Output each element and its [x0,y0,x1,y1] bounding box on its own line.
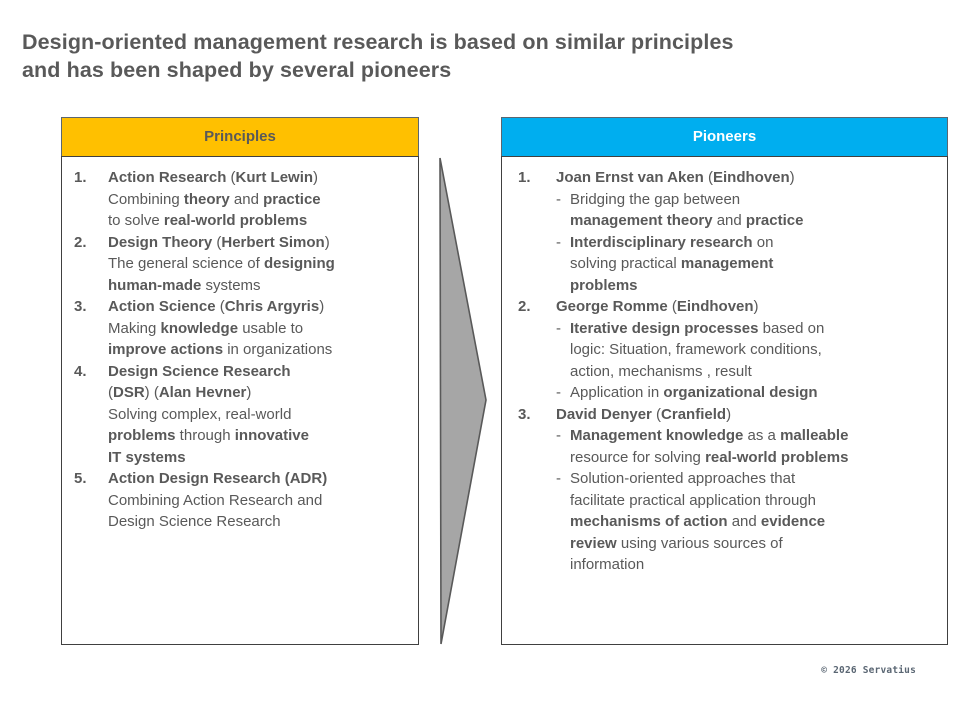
principle-item-detail: improve actions in organizations [108,339,410,361]
emphasis-text: George Romme [556,298,668,315]
emphasis-text: Eindhoven [713,169,790,186]
slide-canvas: Design-oriented management research is b… [0,0,960,720]
principle-item-number: 1. [74,167,87,189]
principle-item: 3.Action Science (Chris Argyris)Making k… [68,296,410,361]
body-text: based on [758,320,824,337]
emphasis-text: Eindhoven [677,298,754,315]
emphasis-text: David Denyer [556,406,652,423]
page-title-line-1: Design-oriented management research is b… [22,28,922,56]
principle-item-detail: Making knowledge usable to [108,318,410,340]
pioneers-list: 1.Joan Ernst van Aken (Eindhoven)-Bridgi… [508,167,939,576]
emphasis-text: Iterative design processes [570,320,758,337]
body-text: and [728,513,761,530]
principle-item-title: Action Research (Kurt Lewin) [108,167,410,189]
body-text: information [570,556,644,573]
emphasis-text: human-made [108,277,201,294]
pioneer-bullet-line: facilitate practical application through [570,490,939,512]
principle-item-detail: IT systems [108,447,410,469]
emphasis-text: Design Science Research [108,363,291,380]
principle-item-detail: Combining theory and practice [108,189,410,211]
body-text: ) [325,234,330,251]
emphasis-text: Cranfield [661,406,726,423]
emphasis-text: Action Design Research (ADR) [108,470,327,487]
principle-item-title: Action Design Research (ADR) [108,468,410,490]
principles-body: 1.Action Research (Kurt Lewin)Combining … [61,156,419,645]
body-text: ( [668,298,677,315]
pioneer-bullet-line: Iterative design processes based on [570,318,939,340]
emphasis-text: real-world problems [705,449,848,466]
body-text: Application in [570,384,663,401]
body-text: Combining [108,191,184,208]
principle-item-number: 3. [74,296,87,318]
principles-header: Principles [61,117,419,156]
copyright-notice: © 2026 Servatius [821,665,916,676]
emphasis-text: management [681,255,774,272]
pioneer-item: 2.George Romme (Eindhoven)-Iterative des… [508,296,939,404]
principle-item: 1.Action Research (Kurt Lewin)Combining … [68,167,410,232]
emphasis-text: Design Theory [108,234,212,251]
principles-panel: Principles 1.Action Research (Kurt Lewin… [61,117,419,645]
emphasis-text: mechanisms of action [570,513,728,530]
pioneer-bullet-line: information [570,554,939,576]
pioneer-bullet-line: action, mechanisms , result [570,361,939,383]
principle-item-title: Action Science (Chris Argyris) [108,296,410,318]
body-text: action, mechanisms , result [570,363,752,380]
body-text: in organizations [223,341,332,358]
emphasis-text: Action Science [108,298,216,315]
pioneer-bullet-line: Solution-oriented approaches that [570,468,939,490]
body-text: ) [726,406,731,423]
principles-list: 1.Action Research (Kurt Lewin)Combining … [68,167,410,533]
emphasis-text: designing [264,255,335,272]
emphasis-text: evidence [761,513,825,530]
pioneer-item-number: 1. [518,167,531,189]
pioneer-item-bullet: -Solution-oriented approaches thatfacili… [556,468,939,576]
body-text: facilitate practical application through [570,492,816,509]
body-text: Combining Action Research and [108,492,322,509]
bullet-dash-icon: - [556,425,561,447]
bullet-dash-icon: - [556,189,561,211]
pioneer-item-title: George Romme (Eindhoven) [556,296,939,318]
body-text: ( [216,298,225,315]
body-text: and [713,212,746,229]
pioneer-item-title: David Denyer (Cranfield) [556,404,939,426]
principle-item-title: Design Theory (Herbert Simon) [108,232,410,254]
principle-item-detail: problems through innovative [108,425,410,447]
emphasis-text: Management knowledge [570,427,743,444]
body-text: ( [704,169,713,186]
body-text: ) [313,169,318,186]
right-pointing-arrow-icon [430,150,500,652]
emphasis-text: Alan Hevner [159,384,247,401]
body-text: Bridging the gap between [570,191,740,208]
principle-item-number: 2. [74,232,87,254]
emphasis-text: Action Research [108,169,226,186]
emphasis-text: practice [263,191,321,208]
emphasis-text: Joan Ernst van Aken [556,169,704,186]
emphasis-text: Herbert Simon [221,234,324,251]
emphasis-text: real-world problems [164,212,307,229]
emphasis-text: DSR [113,384,145,401]
page-title: Design-oriented management research is b… [22,28,922,84]
principle-item: 4.Design Science Research(DSR) (Alan Hev… [68,361,410,469]
body-text: resource for solving [570,449,705,466]
principle-item-detail: human-made systems [108,275,410,297]
body-text: ( [226,169,235,186]
pioneer-item-bullet: -Management knowledge as a malleablereso… [556,425,939,468]
body-text: and [230,191,263,208]
pioneer-bullet-line: Interdisciplinary research on [570,232,939,254]
pioneer-item-bullet: -Bridging the gap betweenmanagement theo… [556,189,939,232]
body-text: systems [201,277,260,294]
principle-item-detail: Combining Action Research and [108,490,410,512]
pioneers-body: 1.Joan Ernst van Aken (Eindhoven)-Bridgi… [501,156,948,645]
principle-item-detail: Design Science Research [108,511,410,533]
pioneer-bullet-line: problems [570,275,939,297]
body-text: ( [652,406,661,423]
pioneer-bullet-line: solving practical management [570,253,939,275]
pioneer-bullet-line: Application in organizational design [570,382,939,404]
emphasis-text: Chris Argyris [225,298,319,315]
body-text: Making [108,320,161,337]
emphasis-text: Interdisciplinary research [570,234,753,251]
principle-item-detail: (DSR) (Alan Hevner) [108,382,410,404]
body-text: The general science of [108,255,264,272]
principle-item-number: 5. [74,468,87,490]
emphasis-text: IT systems [108,449,186,466]
emphasis-text: problems [570,277,638,294]
body-text: Solving complex, real-world [108,406,291,423]
body-text: ) [319,298,324,315]
body-text: ) [790,169,795,186]
body-text: on [753,234,774,251]
body-text: to solve [108,212,164,229]
emphasis-text: improve actions [108,341,223,358]
pioneer-bullet-line: logic: Situation, framework conditions, [570,339,939,361]
emphasis-text: organizational design [663,384,817,401]
pioneer-bullet-line: management theory and practice [570,210,939,232]
pioneer-item-bullet: -Application in organizational design [556,382,939,404]
emphasis-text: management theory [570,212,713,229]
pioneer-bullet-line: review using various sources of [570,533,939,555]
pioneer-bullet-line: resource for solving real-world problems [570,447,939,469]
pioneer-bullet-line: Bridging the gap between [570,189,939,211]
pioneer-item-number: 2. [518,296,531,318]
emphasis-text: Kurt Lewin [236,169,314,186]
body-text: ) [754,298,759,315]
bullet-dash-icon: - [556,382,561,404]
body-text: through [176,427,235,444]
body-text: using various sources of [617,535,783,552]
body-text: ) [246,384,251,401]
bullet-dash-icon: - [556,318,561,340]
pioneer-item-number: 3. [518,404,531,426]
emphasis-text: theory [184,191,230,208]
pioneer-bullet-line: Management knowledge as a malleable [570,425,939,447]
principle-item-detail: to solve real-world problems [108,210,410,232]
pioneer-bullet-line: mechanisms of action and evidence [570,511,939,533]
emphasis-text: practice [746,212,804,229]
emphasis-text: malleable [780,427,848,444]
principle-item-title: Design Science Research [108,361,410,383]
principle-item-detail: Solving complex, real-world [108,404,410,426]
principle-item-number: 4. [74,361,87,383]
body-text: Design Science Research [108,513,281,530]
principle-item-detail: The general science of designing [108,253,410,275]
body-text: as a [743,427,780,444]
emphasis-text: innovative [235,427,309,444]
body-text: usable to [238,320,303,337]
body-text: solving practical [570,255,681,272]
body-text: Solution-oriented approaches that [570,470,795,487]
body-text: ) ( [145,384,159,401]
pioneer-item-bullet: -Interdisciplinary research onsolving pr… [556,232,939,297]
pioneer-item-bullet: -Iterative design processes based onlogi… [556,318,939,383]
bullet-dash-icon: - [556,468,561,490]
emphasis-text: knowledge [161,320,239,337]
body-text: ( [212,234,221,251]
emphasis-text: review [570,535,617,552]
pioneers-panel: Pioneers 1.Joan Ernst van Aken (Eindhove… [501,117,948,645]
pioneer-item: 1.Joan Ernst van Aken (Eindhoven)-Bridgi… [508,167,939,296]
bullet-dash-icon: - [556,232,561,254]
pioneers-header: Pioneers [501,117,948,156]
emphasis-text: problems [108,427,176,444]
body-text: logic: Situation, framework conditions, [570,341,822,358]
page-title-line-2: and has been shaped by several pioneers [22,56,922,84]
pioneer-item-title: Joan Ernst van Aken (Eindhoven) [556,167,939,189]
pioneer-item: 3.David Denyer (Cranfield)-Management kn… [508,404,939,576]
principle-item: 5.Action Design Research (ADR)Combining … [68,468,410,533]
principle-item: 2.Design Theory (Herbert Simon)The gener… [68,232,410,297]
